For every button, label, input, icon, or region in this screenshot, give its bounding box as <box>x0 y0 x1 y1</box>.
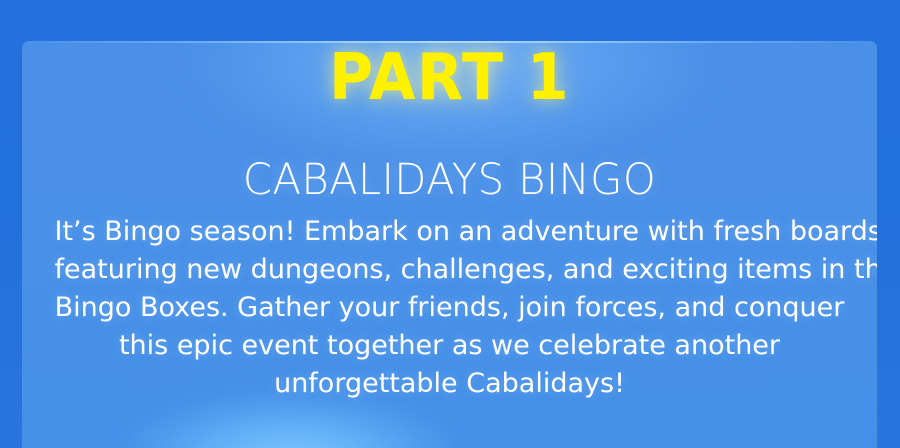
panel-content: PART 1 CABALIDAYS BINGO It’s Bingo seaso… <box>22 41 877 448</box>
body-line: this epic event together as we celebrate… <box>55 327 845 365</box>
body-paragraph: It’s Bingo season! Embark on an adventur… <box>55 213 845 403</box>
page-subtitle: CABALIDAYS BINGO <box>35 159 864 202</box>
page-title: PART 1 <box>48 46 852 110</box>
body-line: unforgettable Cabalidays! <box>55 365 845 403</box>
banner-screen: PART 1 CABALIDAYS BINGO It’s Bingo seaso… <box>0 0 900 448</box>
body-line: featuring new dungeons, challenges, and … <box>55 251 845 289</box>
content-panel: PART 1 CABALIDAYS BINGO It’s Bingo seaso… <box>22 41 877 448</box>
body-line: Bingo Boxes. Gather your friends, join f… <box>55 289 845 327</box>
body-line: It’s Bingo season! Embark on an adventur… <box>55 213 845 251</box>
